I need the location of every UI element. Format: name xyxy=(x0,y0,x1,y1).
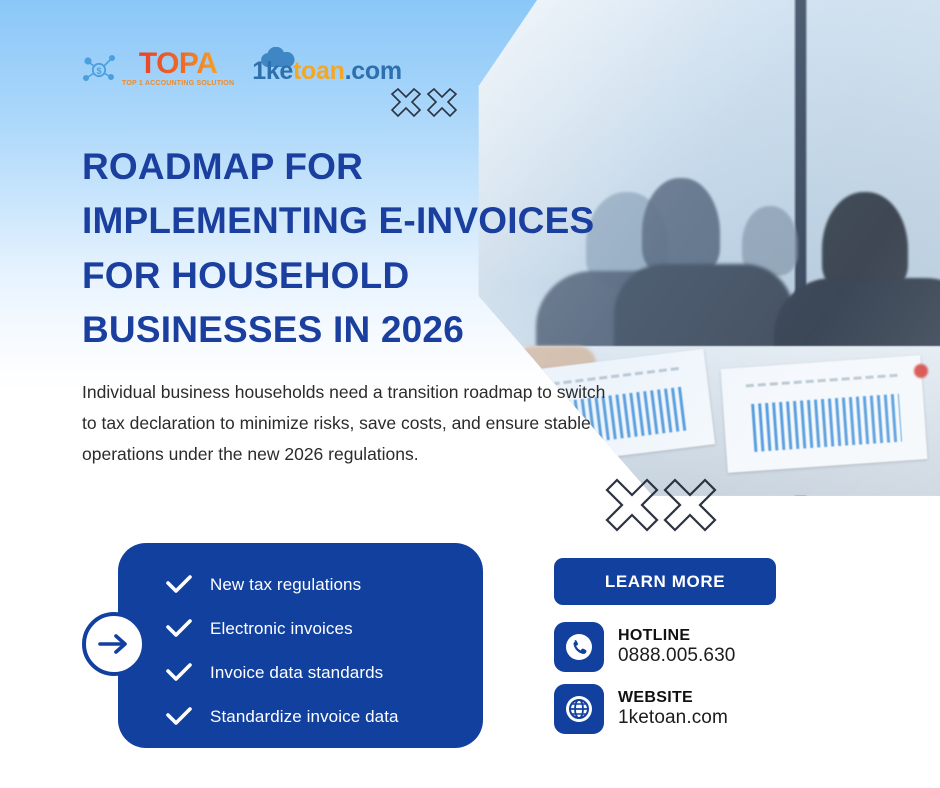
check-icon xyxy=(166,663,192,683)
list-item-label: New tax regulations xyxy=(210,575,361,595)
check-icon xyxy=(166,707,192,727)
logo-1ketoan[interactable]: 1ketoan.com xyxy=(252,51,402,86)
x-cross-outline-icon xyxy=(603,478,721,540)
features-card: New tax regulations Electronic invoices … xyxy=(118,543,483,748)
logo-topa[interactable]: $ TOPA TOP 1 ACCOUNTING SOLUTION xyxy=(82,50,234,87)
contact-website[interactable]: WEBSITE 1ketoan.com xyxy=(554,684,728,734)
logo-part-dotcom: .com xyxy=(345,57,402,85)
logo-topa-wordmark: TOPA xyxy=(139,50,218,79)
logo-topa-tagline: TOP 1 ACCOUNTING SOLUTION xyxy=(122,80,234,87)
network-dollar-icon: $ xyxy=(82,53,118,87)
check-icon xyxy=(166,575,192,595)
arrow-right-circle-icon[interactable] xyxy=(82,612,146,676)
x-cross-outline-icon xyxy=(388,88,460,132)
check-icon xyxy=(166,619,192,639)
list-item[interactable]: New tax regulations xyxy=(166,563,469,607)
contact-label: WEBSITE xyxy=(618,689,728,707)
list-item-label: Invoice data standards xyxy=(210,663,383,683)
logo-bar: $ TOPA TOP 1 ACCOUNTING SOLUTION 1ketoan… xyxy=(82,50,402,87)
globe-icon xyxy=(554,684,604,734)
contact-text: WEBSITE 1ketoan.com xyxy=(618,689,728,728)
headline-line-1: ROADMAP FOR xyxy=(82,140,642,194)
phone-icon xyxy=(554,622,604,672)
headline-line-4: BUSINESSES IN 2026 xyxy=(82,303,642,357)
logo-1ketoan-wordmark: 1ketoan.com xyxy=(252,57,402,86)
contact-text: HOTLINE 0888.005.630 xyxy=(618,627,735,666)
page-title: ROADMAP FOR IMPLEMENTING E-INVOICES FOR … xyxy=(82,140,642,358)
list-item-label: Electronic invoices xyxy=(210,619,353,639)
features-list: New tax regulations Electronic invoices … xyxy=(166,563,469,739)
contact-hotline[interactable]: HOTLINE 0888.005.630 xyxy=(554,622,735,672)
arrow-right-icon xyxy=(98,631,130,657)
headline-line-3: FOR HOUSEHOLD xyxy=(82,249,642,303)
learn-more-button[interactable]: LEARN MORE xyxy=(554,558,776,605)
contact-value: 1ketoan.com xyxy=(618,707,728,728)
logo-part-1ke: 1ke xyxy=(252,57,293,85)
poster-canvas: $ TOPA TOP 1 ACCOUNTING SOLUTION 1ketoan… xyxy=(0,0,940,788)
logo-part-toan: toan xyxy=(293,57,345,85)
contact-label: HOTLINE xyxy=(618,627,735,645)
svg-text:$: $ xyxy=(96,66,101,76)
headline-line-2: IMPLEMENTING E-INVOICES xyxy=(82,194,642,248)
body-paragraph: Individual business households need a tr… xyxy=(82,377,612,470)
list-item[interactable]: Invoice data standards xyxy=(166,651,469,695)
contact-value: 0888.005.630 xyxy=(618,645,735,666)
list-item[interactable]: Standardize invoice data xyxy=(166,695,469,739)
list-item-label: Standardize invoice data xyxy=(210,707,399,727)
list-item[interactable]: Electronic invoices xyxy=(166,607,469,651)
